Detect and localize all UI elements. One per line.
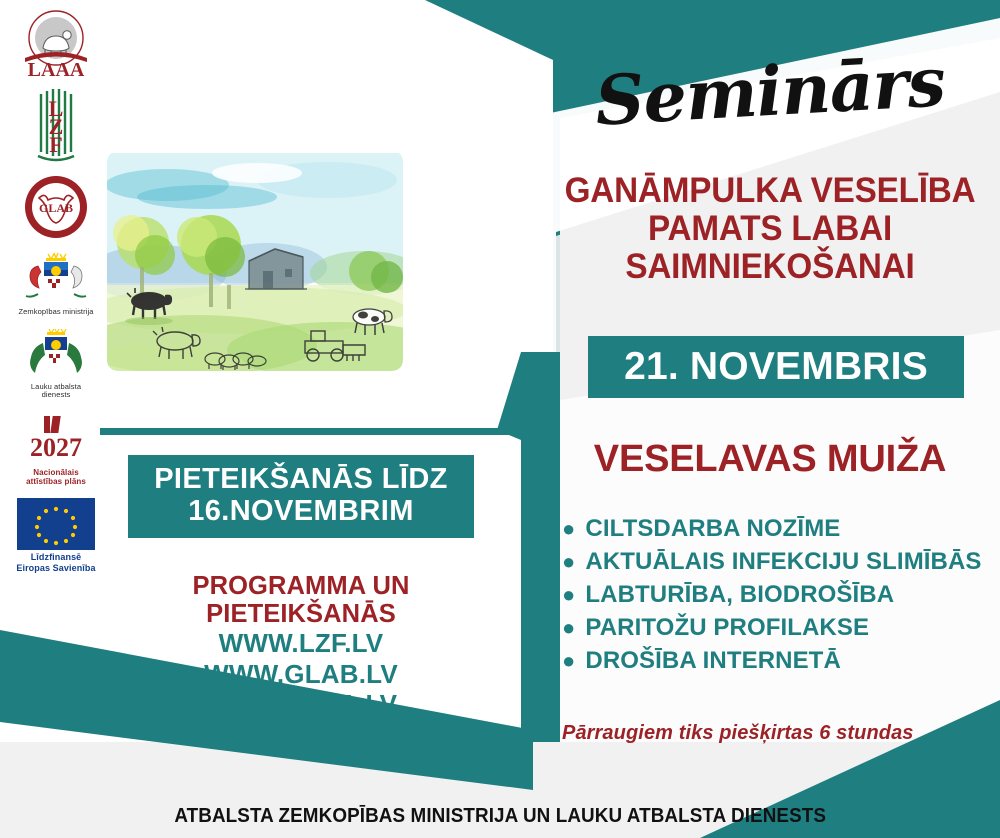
topic-label-4: PARITOŽU PROFILAKSE [585, 611, 869, 644]
deadline-line-1: PIETEIKŠANĀS LĪDZ [154, 463, 448, 495]
eu-flag-caption: Līdzfinansē Eiropas Savienība [16, 552, 95, 573]
svg-text:2027: 2027 [30, 433, 82, 462]
bullet-dot-icon: ● [562, 518, 575, 540]
deadline-line-2: 16.NOVEMBRIM [154, 495, 448, 527]
main-heading-line-2: PAMATS LABAI [552, 210, 989, 248]
topic-item-1: ● CILTSDARBA NOZĪME [562, 512, 1000, 545]
venue-name: VESELAVAS MUIŽA [540, 438, 1000, 481]
hours-note: Pārraugiem tiks piešķirtas 6 stundas [562, 722, 1000, 745]
latvia-shield-icon [25, 329, 87, 381]
glab-logo: GLAB [21, 172, 91, 242]
main-heading-line-1: GANĀMPULKA VESELĪBA [552, 172, 989, 210]
lauku-atbalsta-dienests-caption: Lauku atbalsta dienests [31, 383, 81, 400]
nap-2027-caption: Nacionālais attīstības plāns [26, 468, 86, 486]
nap-2027-mark: 2027 [20, 414, 92, 466]
seminar-details-column: Seminārs GANĀMPULKA VESELĪBA PAMATS LABA… [540, 0, 1000, 790]
bullet-dot-icon: ● [562, 551, 575, 573]
main-heading: GANĀMPULKA VESELĪBA PAMATS LABAI SAIMNIE… [540, 172, 1000, 285]
date-badge: 21. NOVEMBRIS [588, 336, 964, 398]
bullet-dot-icon: ● [562, 617, 575, 639]
zemkopibas-ministrija-logo: Zemkopības ministrija [18, 252, 94, 317]
svg-text:F: F [49, 132, 62, 157]
url-laaa[interactable]: WWW.LAAA.LV [96, 689, 506, 720]
topic-label-1: CILTSDARBA NOZĪME [585, 512, 840, 545]
seminar-poster: LAAA L Z F GLAB [0, 0, 1000, 838]
topic-label-5: DROŠĪBA INTERNETĀ [585, 644, 840, 677]
footer-label: ATBALSTA ZEMKOPĪBAS MINISTRIJA UN LAUKU … [174, 804, 826, 828]
laaa-logo-mark: LAAA [15, 8, 97, 80]
svg-text:LAAA: LAAA [28, 59, 85, 80]
teal-horizontal-rule [100, 428, 525, 435]
nap-2027-logo: 2027 Nacionālais attīstības plāns [20, 414, 92, 486]
main-heading-line-3: SAIMNIEKOŠANAI [552, 248, 989, 286]
eu-flag-icon [17, 498, 95, 550]
script-title: Seminārs [538, 39, 1000, 145]
lzf-logo-mark: L Z F [25, 86, 87, 164]
programme-label: PROGRAMMA UN PIETEIKŠANĀS [96, 572, 506, 628]
zemkopibas-ministrija-caption: Zemkopības ministrija [18, 308, 93, 317]
topics-list: ● CILTSDARBA NOZĪME ● AKTUĀLAIS INFEKCIJ… [562, 512, 1000, 678]
bullet-dot-icon: ● [562, 584, 575, 606]
footer-support-text: ATBALSTA ZEMKOPĪBAS MINISTRIJA UN LAUKU … [0, 804, 1000, 828]
svg-text:GLAB: GLAB [39, 201, 73, 215]
lauku-atbalsta-dienests-logo: Lauku atbalsta dienests [25, 329, 87, 400]
deadline-box: PIETEIKŠANĀS LĪDZ 16.NOVEMBRIM [128, 455, 474, 538]
laaa-logo: LAAA [15, 8, 97, 80]
registration-column: PIETEIKŠANĀS LĪDZ 16.NOVEMBRIM PROGRAMMA… [96, 455, 506, 720]
topic-label-2: AKTUĀLAIS INFEKCIJU SLIMĪBĀS [585, 545, 981, 578]
latvia-coat-of-arms-icon [18, 252, 94, 306]
topic-item-5: ● DROŠĪBA INTERNETĀ [562, 644, 1000, 677]
topic-item-4: ● PARITOŽU PROFILAKSE [562, 611, 1000, 644]
watercolor-farm-illustration [97, 145, 412, 382]
topic-item-2: ● AKTUĀLAIS INFEKCIJU SLIMĪBĀS [562, 545, 1000, 578]
bullet-dot-icon: ● [562, 650, 575, 672]
eu-flag-logo: Līdzfinansē Eiropas Savienība [16, 498, 95, 573]
topic-label-3: LABTURĪBA, BIODROŠĪBA [585, 578, 894, 611]
lzf-logo: L Z F [25, 86, 87, 164]
url-glab[interactable]: WWW.GLAB.LV [96, 659, 506, 690]
glab-logo-mark: GLAB [21, 172, 91, 242]
topic-item-3: ● LABTURĪBA, BIODROŠĪBA [562, 578, 1000, 611]
url-lzf[interactable]: WWW.LZF.LV [96, 628, 506, 659]
